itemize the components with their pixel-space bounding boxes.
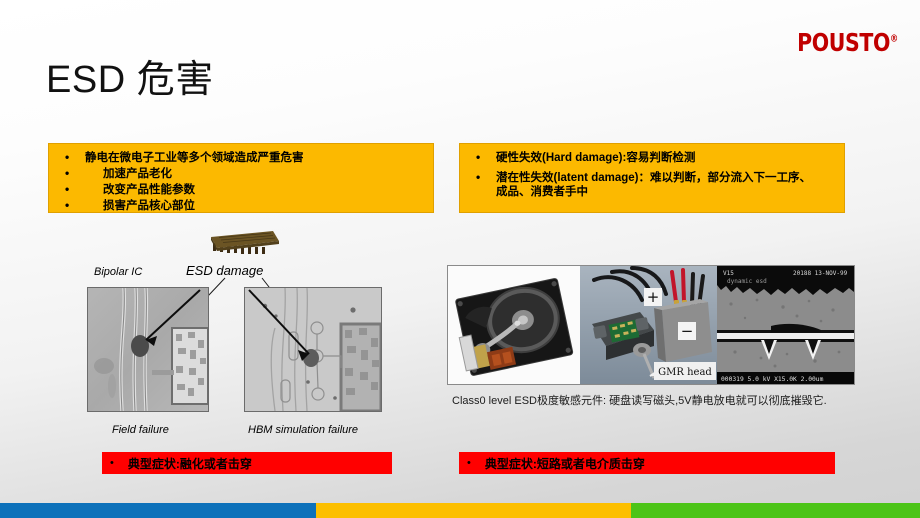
hbm-simulation-micrograph [244, 287, 382, 412]
photo-strip-caption: Class0 level ESD极度敏感元件: 硬盘读写磁头,5V静电放电就可以… [452, 392, 827, 408]
field-failure-caption: Field failure [112, 424, 169, 436]
footer-color-bar [0, 503, 920, 518]
hdd-illustration [448, 266, 580, 384]
footer-bar-blue [0, 503, 316, 518]
svg-text:GMR head: GMR head [658, 367, 712, 378]
svg-text:000319 5.0 kV X15.0K 2.00um: 000319 5.0 kV X15.0K 2.00um [721, 376, 824, 383]
micrograph-image [245, 288, 381, 411]
field-failure-micrograph [87, 287, 209, 412]
bullet-icon: • [110, 457, 114, 469]
logo-wordmark: POUSTO [797, 28, 890, 57]
list-item: 静电在微电子工业等多个领域造成严重危害 [57, 151, 423, 166]
esd-damage-label: ESD damage [186, 263, 263, 278]
svg-text:dynamic esd: dynamic esd [727, 278, 767, 285]
right-bullet-list: 硬性失效(Hard damage):容易判断检测 潜在性失效(latent da… [468, 151, 834, 199]
right-key-points-box: 硬性失效(Hard damage):容易判断检测 潜在性失效(latent da… [459, 143, 845, 213]
hbm-simulation-caption: HBM simulation failure [248, 424, 358, 436]
registered-trademark-icon: ® [890, 34, 898, 45]
dip-ic-chip-illustration [205, 229, 283, 255]
page-title: ESD 危害 [46, 48, 214, 103]
list-item: 硬性失效(Hard damage):容易判断检测 [468, 151, 834, 165]
tester-illustration: + − GMR head [580, 266, 717, 384]
left-symptom-text: 典型症状:融化或者击穿 [128, 455, 252, 472]
list-item: 潜在性失效(latent damage)：难以判断，部分流入下一工序、成品、消费… [468, 171, 834, 199]
svg-text:V15: V15 [723, 270, 734, 277]
footer-bar-green [631, 503, 920, 518]
sem-damage-micrograph: V15 20188 13-NOV-99 dynamic esd [717, 266, 854, 384]
list-item-line1: 潜在性失效(latent damage)：难以判断，部分流入下一工序、 [496, 172, 811, 184]
right-symptom-bar: • 典型症状:短路或者电介质击穿 [459, 452, 835, 474]
bullet-icon: • [467, 457, 471, 469]
list-item-line2: 成品、消费者手中 [496, 185, 834, 199]
footer-bar-yellow [316, 503, 631, 518]
slide-canvas: POUSTO® ESD 危害 静电在微电子工业等多个领域造成严重危害 加速产品老… [0, 0, 920, 518]
right-symptom-text: 典型症状:短路或者电介质击穿 [485, 455, 645, 472]
left-symptom-bar: • 典型症状:融化或者击穿 [102, 452, 392, 474]
list-item: 损害产品核心部位 [57, 199, 423, 214]
svg-text:−: − [681, 322, 694, 340]
left-key-points-box: 静电在微电子工业等多个领域造成严重危害 加速产品老化 改变产品性能参数 损害产品… [48, 143, 434, 213]
gmr-head-test-setup-photo: + − GMR head [580, 266, 717, 384]
list-item: 加速产品老化 [57, 167, 423, 182]
sem-illustration: V15 20188 13-NOV-99 dynamic esd [717, 266, 854, 384]
micrograph-image [88, 288, 208, 411]
list-item: 改变产品性能参数 [57, 183, 423, 198]
svg-text:+: + [647, 288, 660, 306]
svg-text:20188 13-NOV-99: 20188 13-NOV-99 [793, 270, 848, 277]
pousto-logo: POUSTO® [797, 28, 898, 57]
bipolar-ic-label: Bipolar IC [94, 266, 142, 278]
hard-disk-drive-photo [448, 266, 580, 384]
left-bullet-list: 静电在微电子工业等多个领域造成严重危害 加速产品老化 改变产品性能参数 损害产品… [57, 151, 423, 214]
right-photo-strip: + − GMR head V15 20188 13-N [447, 265, 855, 385]
